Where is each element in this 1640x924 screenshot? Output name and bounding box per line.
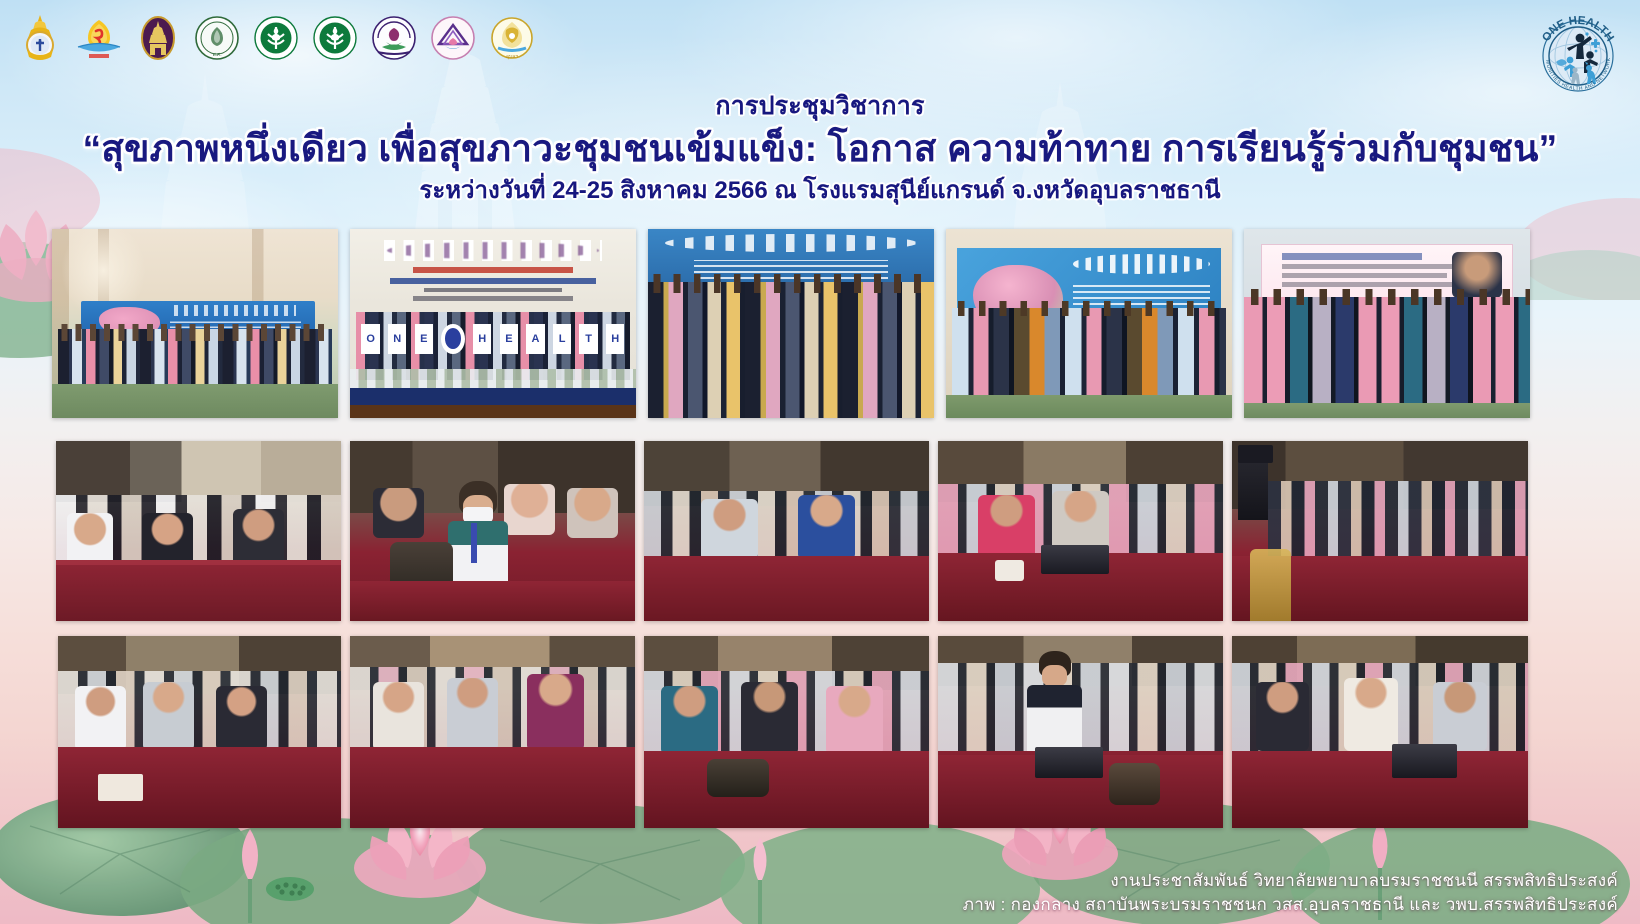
title-block: การประชุมวิชาการ “สุขภาพหนึ่งเดียว เพื่อ… (0, 92, 1640, 205)
ubon-ratchathani-university-logo (134, 14, 182, 62)
lotus-college-logo (429, 14, 477, 62)
partner-logo-strip: พ.ศ. (16, 14, 536, 62)
photo-pink-uniform-group (1244, 229, 1530, 418)
credit-line-2: ภาพ : กองกลาง สถาบันพระบรมราชชนก วสส.อุบ… (963, 893, 1618, 918)
page-title: “สุขภาพหนึ่งเดียว เพื่อสุขภาวะชุมชนเข้มแ… (0, 127, 1640, 171)
svg-text:พ.ศ.: พ.ศ. (212, 52, 221, 58)
photo-attendees-listening (350, 636, 635, 828)
photo-audience-front-row (56, 441, 341, 621)
photo-audience-wide-hall (1232, 441, 1528, 621)
photo-attendees-seated-rows (1232, 636, 1528, 828)
date-venue-line: ระหว่างวันที่ 24-25 สิงหาคม 2566 ณ โรงแร… (0, 177, 1640, 205)
svg-text:อุบลฯ: อุบลฯ (506, 54, 518, 60)
photo-masked-attendee (350, 441, 635, 621)
photo-attendees-discussion (644, 636, 929, 828)
photo-one-health-letters: O N E H E A L T H (350, 229, 636, 418)
one-health-logo: ONE HEALTH COMMUNITIES HEALTH AND NETWOR… (1532, 8, 1624, 100)
photo-attendee-with-laptop-2 (938, 636, 1223, 828)
photo-audience-smiling-pair (644, 441, 929, 621)
photo-monk-and-officials (946, 229, 1232, 418)
royal-crest-nursing-logo (16, 14, 64, 62)
praboromarajchanok-institute-logo (75, 14, 123, 62)
sirindhorn-college-logo (370, 14, 418, 62)
nursing-college-logo: พ.ศ. (193, 14, 241, 62)
credit-line-1: งานประชาสัมพันธ์ วิทยาลัยพยาบาลบรมราชชนน… (963, 869, 1618, 894)
provincial-emblem-logo: อุบลฯ (488, 14, 536, 62)
photo-audience-with-laptop (938, 441, 1223, 621)
pre-title: การประชุมวิชาการ (0, 92, 1640, 121)
footer-credits: งานประชาสัมพันธ์ วิทยาลัยพยาบาลบรมราชชนน… (963, 869, 1618, 918)
photo-attendees-taking-notes (58, 636, 341, 828)
photo-officials-group-closeup (648, 229, 934, 418)
ministry-of-public-health-logo-1 (252, 14, 300, 62)
ministry-of-public-health-logo-2 (311, 14, 359, 62)
photo-group-stage-banner (52, 229, 338, 418)
